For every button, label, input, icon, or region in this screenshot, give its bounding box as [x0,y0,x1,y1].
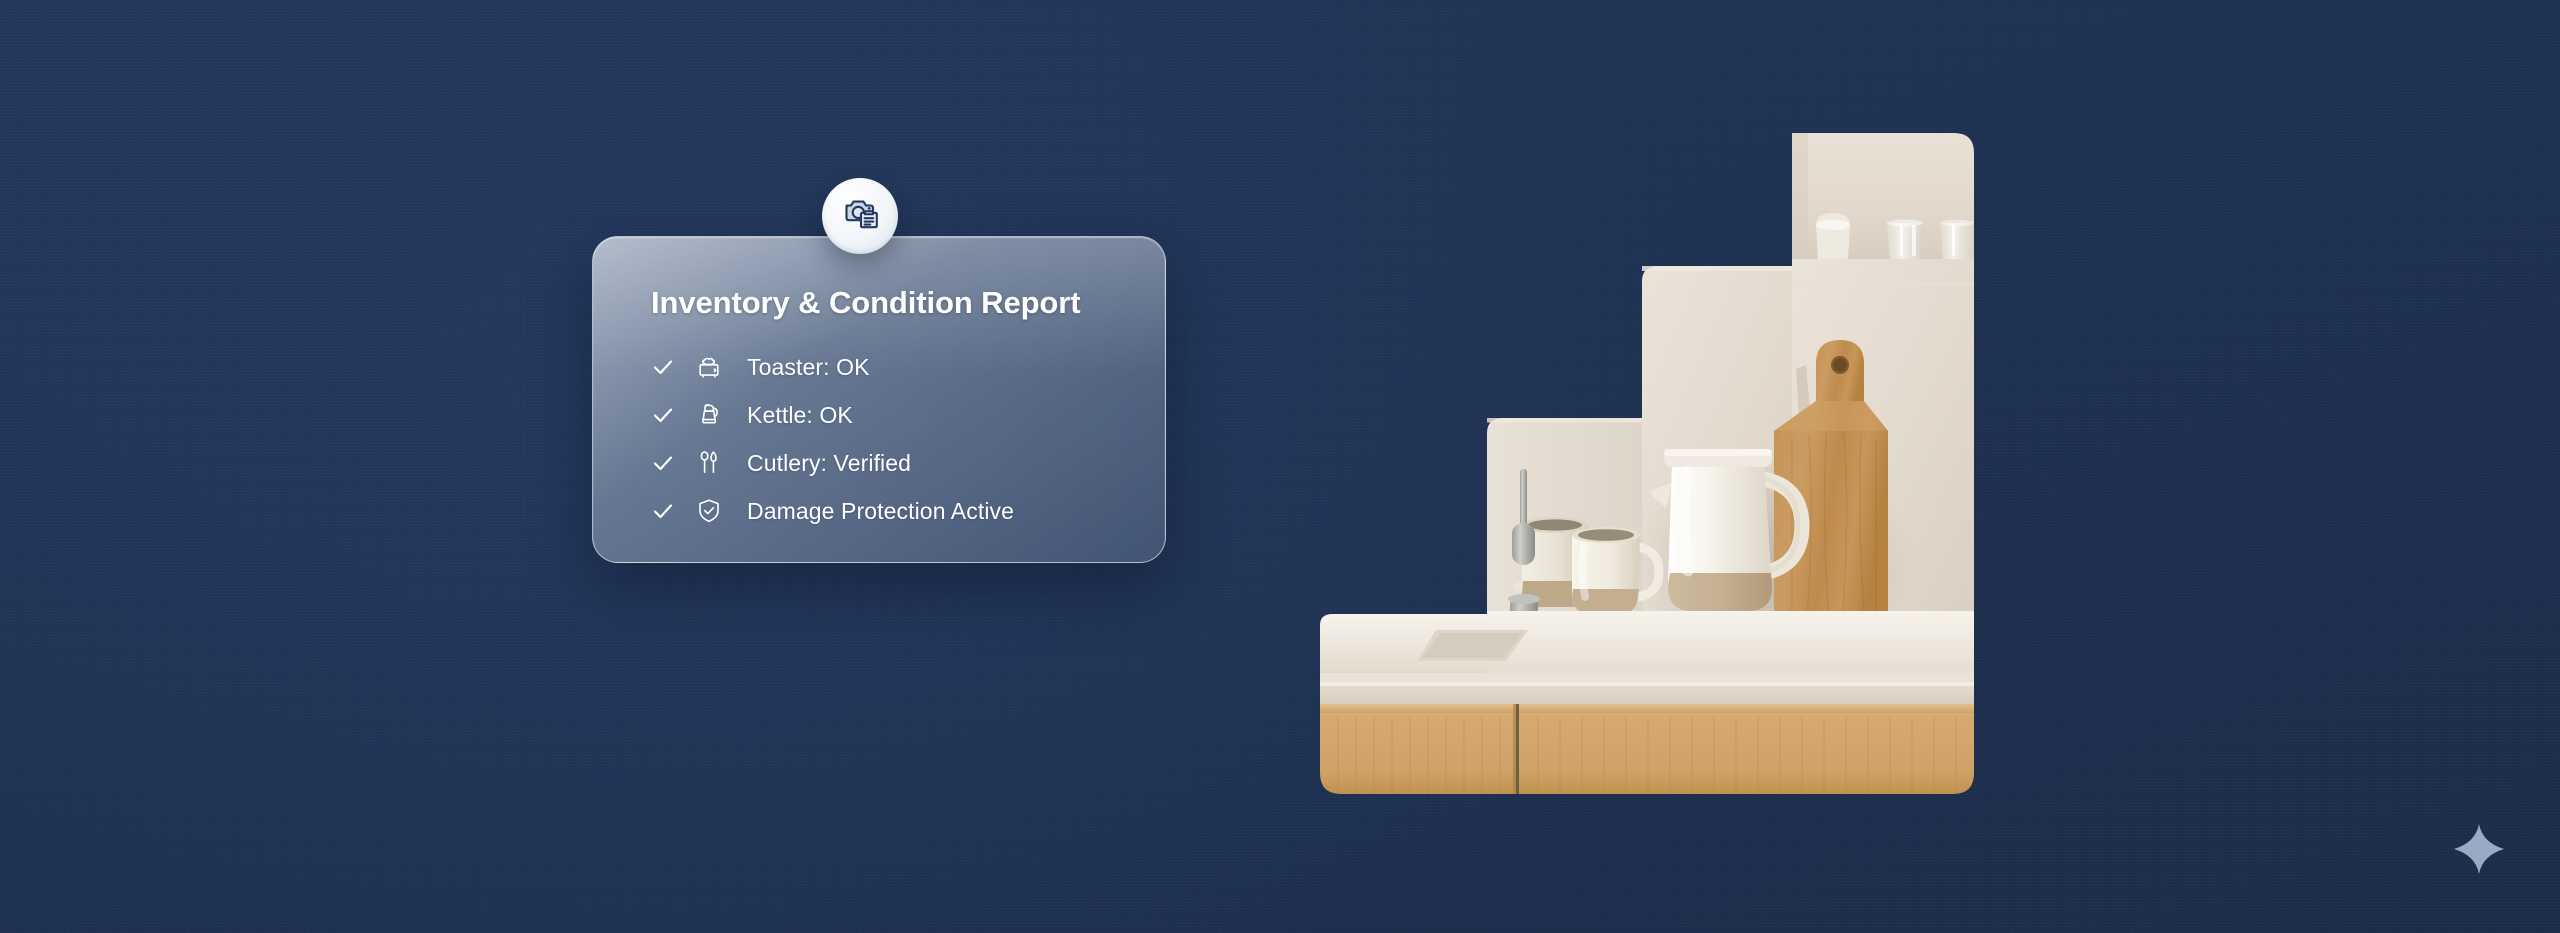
countertop [1320,611,1974,704]
cutlery-icon [693,449,725,477]
list-item[interactable]: Cutlery: Verified [651,439,1165,487]
check-icon [651,403,681,427]
list-item-label: Damage Protection Active [747,498,1014,525]
check-icon [651,499,681,523]
inventory-checklist: Toaster: OK K [651,343,1165,535]
glass-tumbler-left [1887,219,1923,259]
kitchen-photo [1320,133,1974,794]
camera-clipboard-icon [837,191,883,242]
check-icon [651,355,681,379]
list-item[interactable]: Damage Protection Active [651,487,1165,535]
page-title: Inventory & Condition Report [651,285,1165,321]
list-item[interactable]: Kettle: OK [651,391,1165,439]
lower-cabinet-left [1320,704,1519,794]
ceramic-bowl [1816,213,1850,259]
list-item[interactable]: Toaster: OK [651,343,1165,391]
list-item-label: Toaster: OK [747,354,870,381]
lower-cabinet-right [1519,704,1974,794]
glass-tumbler-right [1940,220,1974,259]
toaster-icon [693,353,725,381]
check-icon [651,451,681,475]
camera-clipboard-badge[interactable] [822,178,898,254]
scene-canvas: Inventory & Condition Report T [0,0,2560,933]
shield-check-icon [693,497,725,525]
sparkle-icon [2452,822,2506,876]
list-item-label: Cutlery: Verified [747,450,911,477]
inventory-report-card: Inventory & Condition Report T [592,236,1166,563]
list-item-label: Kettle: OK [747,402,853,429]
kettle-icon [693,401,725,429]
